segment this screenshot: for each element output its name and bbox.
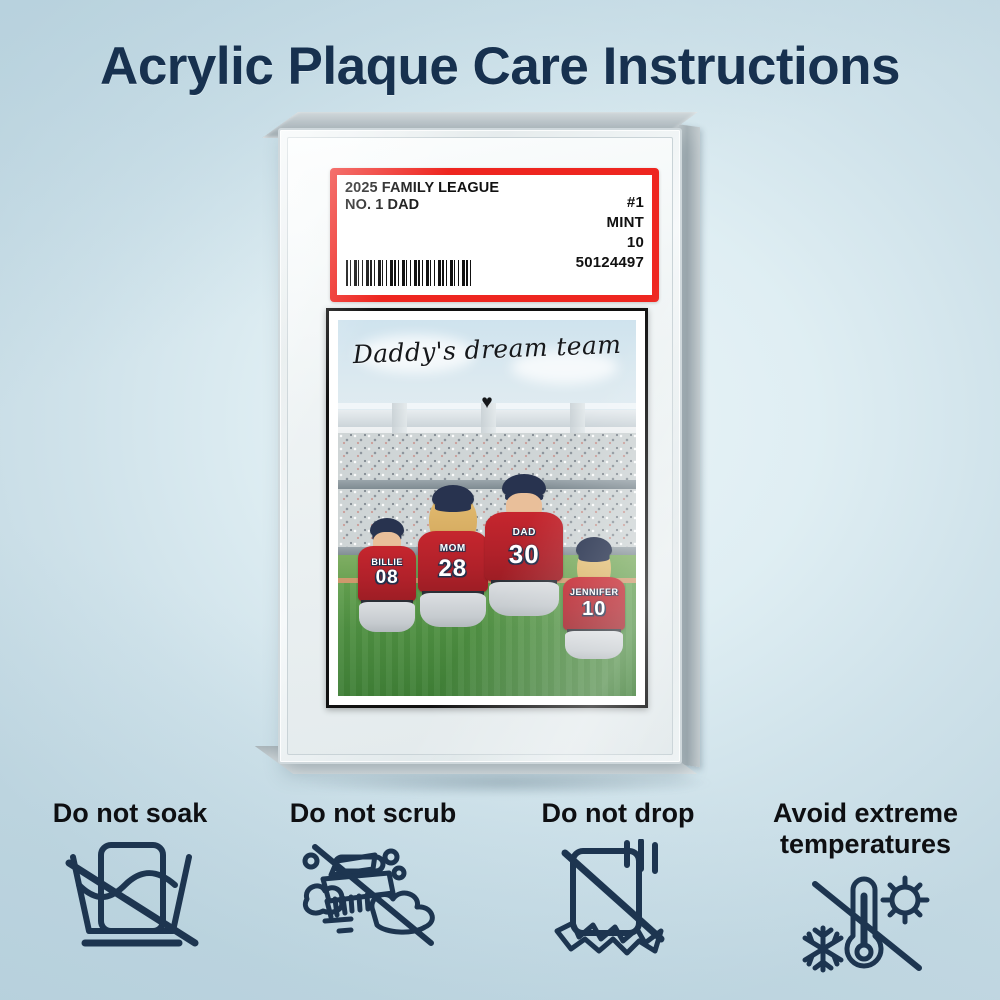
grading-grade-number: 10 [576, 233, 644, 253]
grading-set-line: 2025 FAMILY LEAGUE [345, 180, 499, 197]
care-label-avoid-extreme-temperatures: Avoid extreme temperatures [738, 798, 993, 860]
no-drop-icon [508, 839, 728, 959]
care-item-avoid-extreme-temperatures: Avoid extreme temperatures [738, 798, 993, 978]
jersey-name: BILLIE [371, 557, 403, 567]
care-label-line2: temperatures [738, 829, 993, 860]
artwork-frame: Daddy's dream team ♥ BILLIE 08 [326, 308, 648, 708]
grading-grade-text: MINT [576, 213, 644, 233]
figure-mom: MOM 28 [415, 485, 490, 681]
pants [565, 631, 623, 659]
cap-icon [576, 537, 612, 559]
care-item-no-scrub: Do not scrub [258, 798, 488, 951]
no-extreme-temperature-icon [738, 870, 993, 978]
heart-icon: ♥ [338, 393, 636, 412]
grading-label-right-block: #1 MINT 10 50124497 [576, 193, 644, 273]
no-scrub-icon [258, 839, 488, 951]
page-title: Acrylic Plaque Care Instructions [0, 36, 1000, 97]
jersey-name: DAD [513, 527, 536, 538]
jersey-number: 10 [582, 598, 606, 621]
pants [489, 582, 559, 616]
jersey-number: 28 [438, 555, 467, 583]
care-item-no-drop: Do not drop [508, 798, 728, 959]
cap-icon [432, 485, 474, 509]
barcode [346, 260, 471, 286]
care-item-no-soak: Do not soak [20, 798, 240, 951]
jersey-name: MOM [440, 543, 466, 554]
figure-jennifer: JENNIFER 10 [559, 531, 631, 681]
artwork-image: Daddy's dream team ♥ BILLIE 08 [338, 320, 636, 696]
no-soak-icon [20, 839, 240, 951]
pants [420, 593, 486, 627]
figure-billie: BILLIE 08 [353, 516, 422, 681]
grading-label-title-block: 2025 FAMILY LEAGUE NO. 1 DAD [345, 180, 499, 214]
grading-label: 2025 FAMILY LEAGUE NO. 1 DAD #1 MINT 10 … [330, 168, 659, 302]
grading-serial: 50124497 [576, 253, 644, 273]
acrylic-plaque: 2025 FAMILY LEAGUE NO. 1 DAD #1 MINT 10 … [258, 110, 728, 780]
care-label-no-scrub: Do not scrub [258, 798, 488, 829]
care-label-no-soak: Do not soak [20, 798, 240, 829]
jersey-number: 30 [509, 539, 540, 570]
care-instructions-row: Do not soak Do not scrub [0, 798, 1000, 988]
pants [359, 602, 415, 632]
care-label-no-drop: Do not drop [508, 798, 728, 829]
artwork-mat: Daddy's dream team ♥ BILLIE 08 [329, 311, 645, 705]
care-label-line1: Avoid extreme [738, 798, 993, 829]
plaque-front-face: 2025 FAMILY LEAGUE NO. 1 DAD #1 MINT 10 … [278, 128, 682, 764]
figure-dad: DAD 30 [484, 474, 564, 681]
jersey-number: 08 [376, 567, 399, 589]
jersey-name: JENNIFER [570, 587, 619, 597]
grading-rank: #1 [576, 193, 644, 213]
grading-subject-line: NO. 1 DAD [345, 197, 499, 214]
